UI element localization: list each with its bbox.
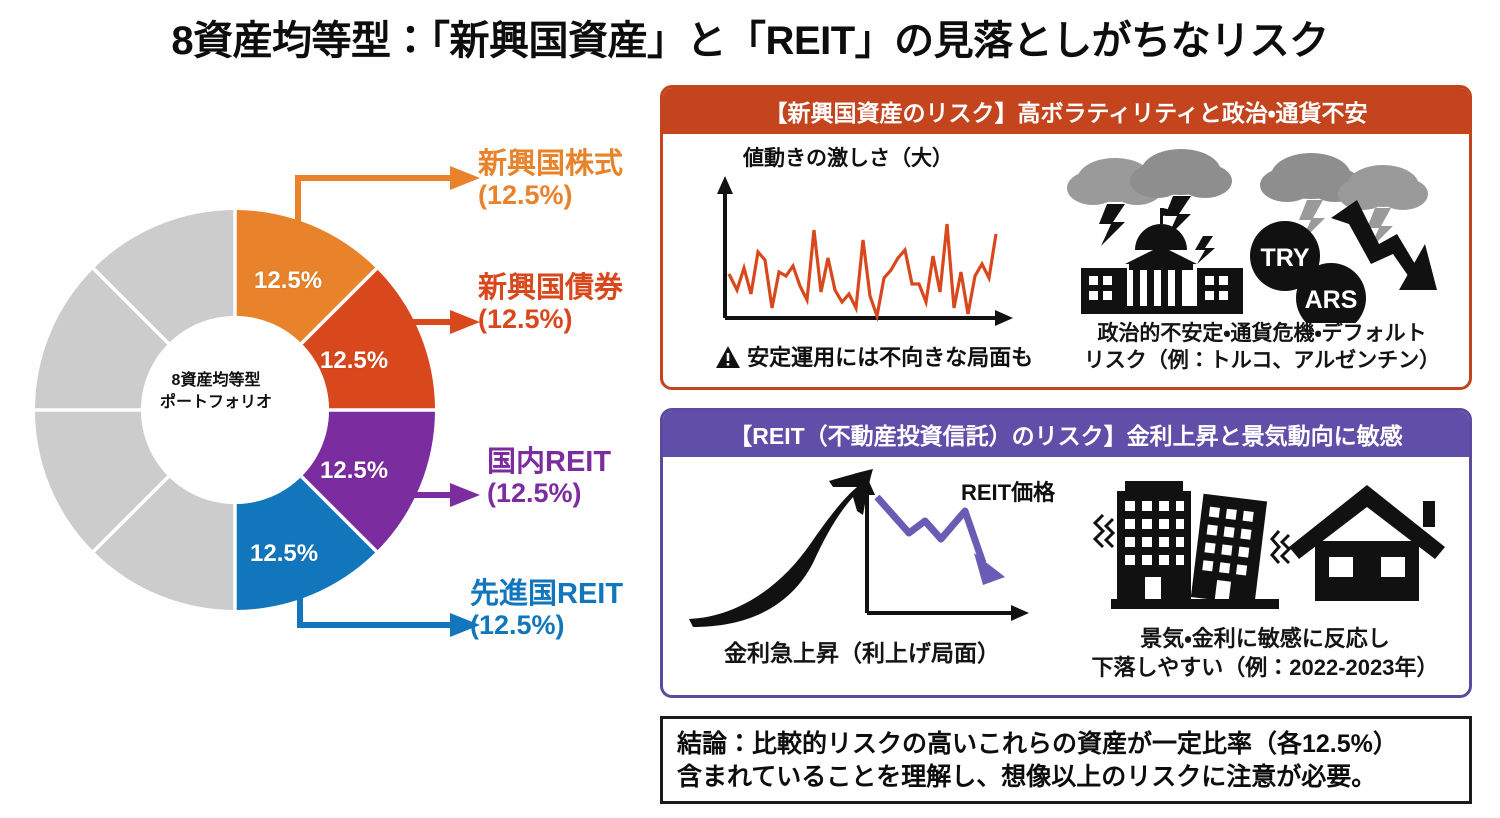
legend-label-domestic-reit: 国内REIT (12.5%) xyxy=(487,446,611,509)
reit-price-label: REIT価格 xyxy=(961,475,1055,507)
lightning-bolt-icon-1 xyxy=(1099,204,1125,246)
leader-line-emerging-equity xyxy=(298,178,455,235)
leader-lines xyxy=(280,150,500,670)
legend-name-emerging-equity: 新興国株式 xyxy=(478,148,623,180)
legend-label-developed-reit: 先進国REIT (12.5%) xyxy=(470,578,623,641)
warning-triangle-icon xyxy=(715,345,741,369)
reit-property-icons xyxy=(1067,469,1461,627)
volatility-caption-text: 安定運用には不向きな局面も xyxy=(747,345,1033,370)
reit-rate-caption: 金利急上昇（利上げ局面） xyxy=(677,639,1047,669)
leader-line-developed-reit xyxy=(300,582,455,625)
donut-center-label: 8資産均等型 ポートフォリオ xyxy=(128,370,304,413)
volatility-line xyxy=(729,224,996,316)
reit-icons-caption-line2: 下落しやすい（例：2022-2023年） xyxy=(1063,654,1467,683)
legend-pct-emerging-bond: (12.5%) xyxy=(478,304,623,334)
storm-cloud-icon-2 xyxy=(1130,149,1232,198)
office-building-icon-1 xyxy=(1117,481,1191,599)
building-base-icon xyxy=(1111,599,1279,609)
panel-emerging-risk: 【新興国資産のリスク】高ボラティリティと政治・通貨不安 値動きの激しさ（大） xyxy=(660,85,1472,390)
legend-pct-domestic-reit: (12.5%) xyxy=(487,478,611,508)
conclusion-line1: 結論：比較的リスクの高いこれらの資産が一定比率（各12.5%） xyxy=(677,728,1455,761)
emerging-icons-caption-line1: 政治的不安定・通貨危機・デフォルト xyxy=(1057,320,1467,347)
conclusion-line2: 含まれていることを理解し、想像以上のリスクに注意が必要。 xyxy=(677,761,1455,794)
legend-pct-emerging-equity: (12.5%) xyxy=(478,180,623,210)
volatility-chart xyxy=(683,168,1033,338)
emerging-icons-caption-line2: リスク（例：トルコ、アルゼンチン） xyxy=(1057,347,1467,374)
legend-name-emerging-bond: 新興国債券 xyxy=(478,272,623,304)
office-building-icon-2 xyxy=(1191,494,1267,605)
currency-badge-ars-label: ARS xyxy=(1305,286,1358,314)
shake-lines-right-icon xyxy=(1272,531,1289,563)
emerging-icons-caption: 政治的不安定・通貨危機・デフォルト リスク（例：トルコ、アルゼンチン） xyxy=(1057,320,1467,375)
reit-icons-caption: 景気・金利に敏感に反応し 下落しやすい（例：2022-2023年） xyxy=(1063,625,1467,682)
donut-center-line2: ポートフォリオ xyxy=(160,394,272,411)
panel-reit-risk: 【REIT（不動産投資信託）のリスク】金利上昇と景気動向に敏感 xyxy=(660,408,1472,698)
conclusion-box: 結論：比較的リスクの高いこれらの資産が一定比率（各12.5%） 含まれていること… xyxy=(660,716,1472,804)
rising-rate-arrow-icon xyxy=(689,469,873,627)
legend-pct-developed-reit: (12.5%) xyxy=(470,610,623,640)
panel-emerging-header: 【新興国資産のリスク】高ボラティリティと政治・通貨不安 xyxy=(663,88,1469,134)
legend-label-emerging-equity: 新興国株式 (12.5%) xyxy=(478,148,623,211)
reit-icons-caption-line1: 景気・金利に敏感に反応し xyxy=(1063,625,1467,654)
emerging-risk-icons: TRY ARS xyxy=(1063,138,1461,323)
lightning-bolt-icon-3 xyxy=(1195,236,1215,264)
volatility-caption-row: 安定運用には不向きな局面も xyxy=(715,340,1033,372)
legend-label-emerging-bond: 新興国債券 (12.5%) xyxy=(478,272,623,335)
reit-price-arrowhead xyxy=(974,553,1005,585)
panel-reit-header: 【REIT（不動産投資信託）のリスク】金利上昇と景気動向に敏感 xyxy=(663,411,1469,457)
currency-badge-try-label: TRY xyxy=(1260,244,1309,272)
house-icon xyxy=(1289,485,1445,601)
leader-arrow-emerging-bond xyxy=(450,310,480,334)
shake-lines-left-icon xyxy=(1095,515,1113,547)
leader-arrow-domestic-reit xyxy=(450,483,480,507)
panel-reit-body: REIT価格 金利急上昇（利上げ局面） xyxy=(663,457,1469,695)
infographic-canvas: 8資産均等型：「新興国資産」と「REIT」の見落としがちなリスク xyxy=(0,0,1500,818)
legend-name-developed-reit: 先進国REIT xyxy=(470,578,623,610)
page-title: 8資産均等型：「新興国資産」と「REIT」の見落としがちなリスク xyxy=(0,8,1500,66)
donut-center-line1: 8資産均等型 xyxy=(172,372,261,389)
panel-emerging-body: 値動きの激しさ（大） 安定運用には不向きな局面も xyxy=(663,134,1469,387)
leader-arrow-emerging-equity xyxy=(450,166,480,190)
legend-name-domestic-reit: 国内REIT xyxy=(487,446,611,478)
